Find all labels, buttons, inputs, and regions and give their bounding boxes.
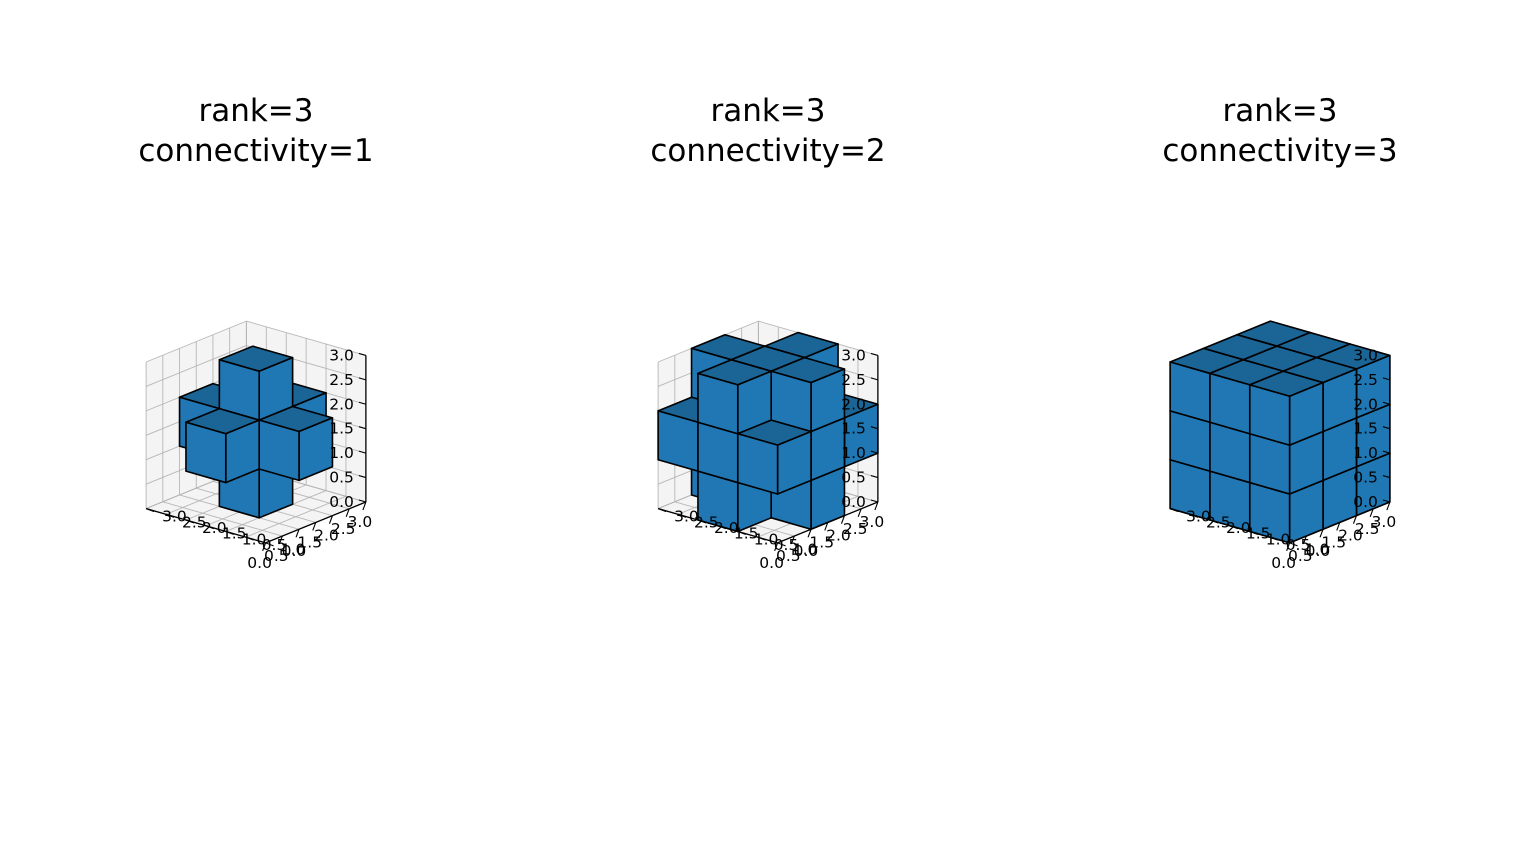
ztick-label: 1.0	[841, 444, 866, 462]
subplot-1: rank=3 connectivity=10.00.51.01.52.02.53…	[0, 0, 512, 864]
ztick-label: 3.0	[329, 346, 354, 364]
ztick-label: 0.0	[329, 493, 354, 511]
xtick-label: 3.0	[1372, 513, 1397, 531]
axes3d-plot-2: 0.00.51.01.52.02.53.00.00.51.01.52.02.53…	[512, 200, 1024, 670]
voxel-cube	[1250, 371, 1323, 445]
ztick-label: 1.0	[329, 444, 354, 462]
voxel-cube	[186, 409, 259, 483]
ytick-label: 3.0	[1186, 508, 1211, 526]
subplot-2: rank=3 connectivity=20.00.51.01.52.02.53…	[512, 0, 1024, 864]
ztick-label: 0.5	[841, 469, 866, 487]
subplot-title: rank=3 connectivity=2	[512, 92, 1024, 171]
voxel-cube	[771, 358, 844, 432]
ztick-label: 2.0	[841, 395, 866, 413]
axes-container: 0.00.51.01.52.02.53.00.00.51.01.52.02.53…	[0, 200, 512, 670]
axes3d-plot-3: 0.00.51.01.52.02.53.00.00.51.01.52.02.53…	[1024, 200, 1536, 670]
ztick-label: 1.5	[329, 420, 354, 438]
axes-container: 0.00.51.01.52.02.53.00.00.51.01.52.02.53…	[512, 200, 1024, 670]
axes3d-plot-1: 0.00.51.01.52.02.53.00.00.51.01.52.02.53…	[0, 200, 512, 670]
ztick-label: 2.5	[329, 371, 354, 389]
ztick-label: 0.5	[329, 469, 354, 487]
subplot-title: rank=3 connectivity=1	[0, 92, 512, 171]
ztick-label: 1.5	[1353, 420, 1378, 438]
voxel-cube	[259, 406, 332, 480]
ztick-label: 1.5	[841, 420, 866, 438]
ztick-label: 0.5	[1353, 469, 1378, 487]
ztick-label: 2.5	[1353, 371, 1378, 389]
ytick-label: 3.0	[674, 508, 699, 526]
xtick-label: 3.0	[348, 513, 373, 531]
voxel-cube	[738, 420, 811, 494]
ztick-label: 2.0	[1353, 395, 1378, 413]
axes-container: 0.00.51.01.52.02.53.00.00.51.01.52.02.53…	[1024, 200, 1536, 670]
ztick-label: 1.0	[1353, 444, 1378, 462]
ztick-label: 0.0	[1353, 493, 1378, 511]
voxel-cube	[219, 346, 292, 420]
matplotlib-figure: rank=3 connectivity=10.00.51.01.52.02.53…	[0, 0, 1536, 864]
xtick-label: 3.0	[860, 513, 885, 531]
ztick-label: 3.0	[1353, 346, 1378, 364]
subplot-title: rank=3 connectivity=3	[1024, 92, 1536, 171]
ytick-label: 3.0	[162, 508, 187, 526]
ztick-label: 2.0	[329, 395, 354, 413]
ztick-label: 2.5	[841, 371, 866, 389]
ztick-label: 3.0	[841, 346, 866, 364]
ztick-label: 0.0	[841, 493, 866, 511]
voxel-cube	[698, 360, 771, 434]
subplot-3: rank=3 connectivity=30.00.51.01.52.02.53…	[1024, 0, 1536, 864]
